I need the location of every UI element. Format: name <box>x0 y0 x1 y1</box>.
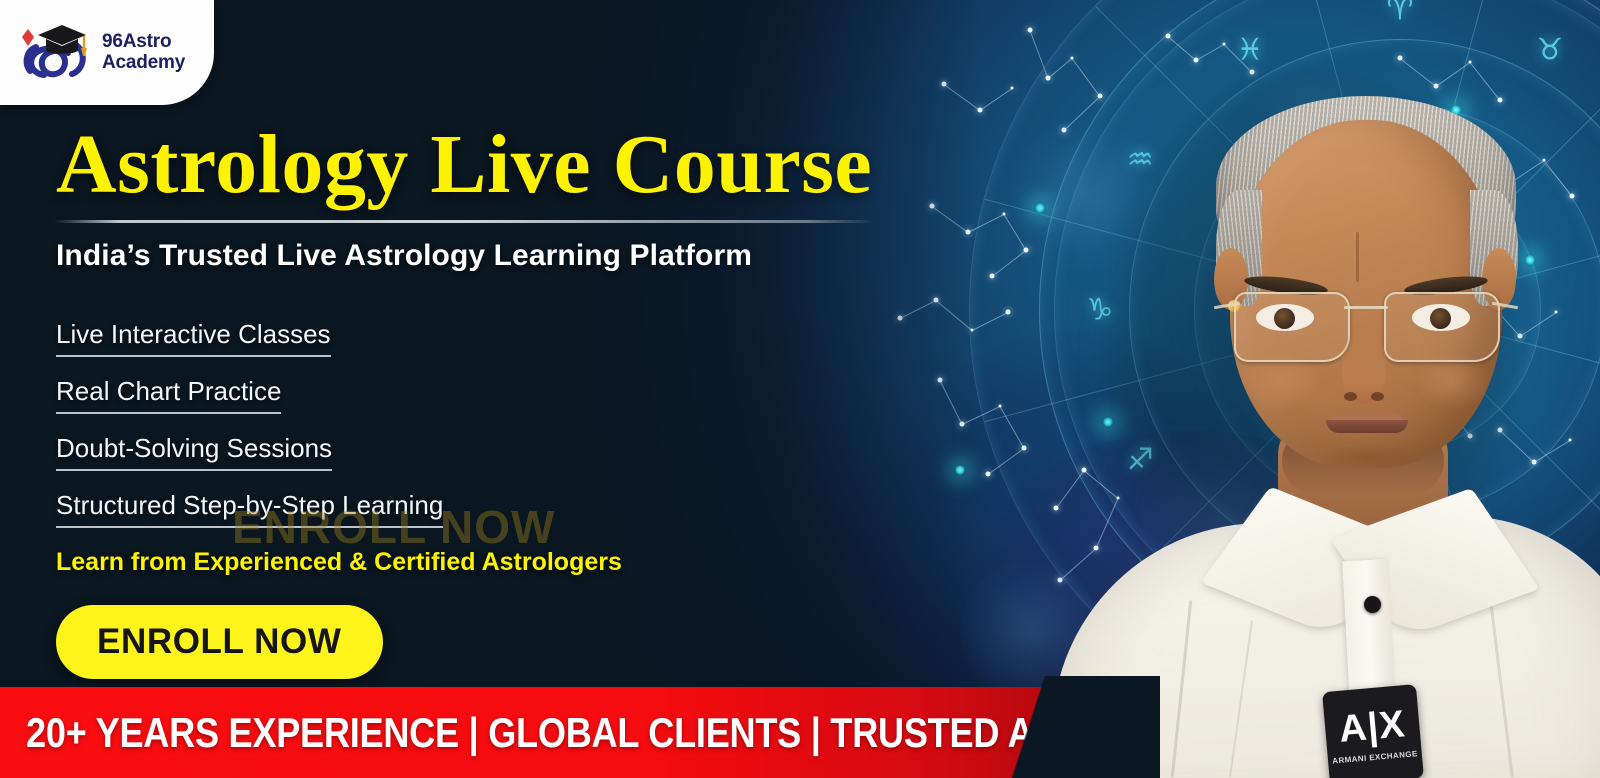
brand-name-line2: Academy <box>102 53 185 73</box>
constellation-star <box>990 274 995 279</box>
feature-item: Real Chart Practice <box>56 376 281 414</box>
constellation-star <box>1022 446 1027 451</box>
constellation-star <box>1003 213 1006 216</box>
hero-tagline: Learn from Experienced & Certified Astro… <box>56 548 956 577</box>
constellation-line <box>988 448 1025 475</box>
constellation-star <box>1011 87 1014 90</box>
astrology-course-banner: ♈♉♊♋♌♍♎♏♐♑♒♓ <box>0 0 1600 778</box>
hero-content: Astrology Live Course India’s Trusted Li… <box>56 122 956 679</box>
forehead-line <box>1356 232 1359 282</box>
shirt-button <box>1364 596 1381 613</box>
feature-item: Live Interactive Classes <box>56 319 331 357</box>
nostril-right <box>1371 392 1384 401</box>
armani-exchange-patch: A|X ARMANI EXCHANGE <box>1322 684 1424 778</box>
patch-logo-text: A|X <box>1338 705 1407 749</box>
title-divider <box>54 220 874 223</box>
constellation-star <box>1024 248 1029 253</box>
constellation-star <box>1006 310 1011 315</box>
brand-logo-text: 96Astro Academy <box>102 32 185 72</box>
astrologer-portrait: A|X ARMANI EXCHANGE <box>1030 0 1600 778</box>
constellation-star <box>999 405 1002 408</box>
graduation-cap-spiral-logo-icon <box>14 17 96 89</box>
hero-subtitle: India’s Trusted Live Astrology Learning … <box>56 239 956 273</box>
lens-left <box>1234 292 1350 362</box>
feature-item: Doubt-Solving Sessions <box>56 433 332 471</box>
constellation-star <box>986 472 991 477</box>
constellation-line <box>1000 406 1025 448</box>
page-title: Astrology Live Course <box>56 122 956 208</box>
constellation-line <box>992 250 1027 277</box>
chin-shadow <box>1312 444 1422 470</box>
enroll-now-button[interactable]: ENROLL NOW <box>56 605 383 679</box>
constellation-line <box>980 88 1013 111</box>
feature-list: Live Interactive ClassesReal Chart Pract… <box>56 319 956 528</box>
nose <box>1342 330 1386 404</box>
brand-logo[interactable]: 96Astro Academy <box>0 0 214 105</box>
mouth <box>1326 420 1408 433</box>
strip-edge-mask <box>980 676 1160 778</box>
brand-name-line1: 96Astro <box>102 32 185 52</box>
glasses-bridge <box>1344 306 1388 309</box>
patch-sub-text: ARMANI EXCHANGE <box>1332 749 1418 765</box>
nostril-left <box>1344 392 1357 401</box>
lens-right <box>1384 292 1500 362</box>
credentials-strip: 20+ YEARS EXPERIENCE | GLOBAL CLIENTS | … <box>0 687 1042 778</box>
feature-item: Structured Step-by-Step Learning <box>56 490 443 528</box>
credentials-text: 20+ YEARS EXPERIENCE | GLOBAL CLIENTS | … <box>26 709 1042 757</box>
